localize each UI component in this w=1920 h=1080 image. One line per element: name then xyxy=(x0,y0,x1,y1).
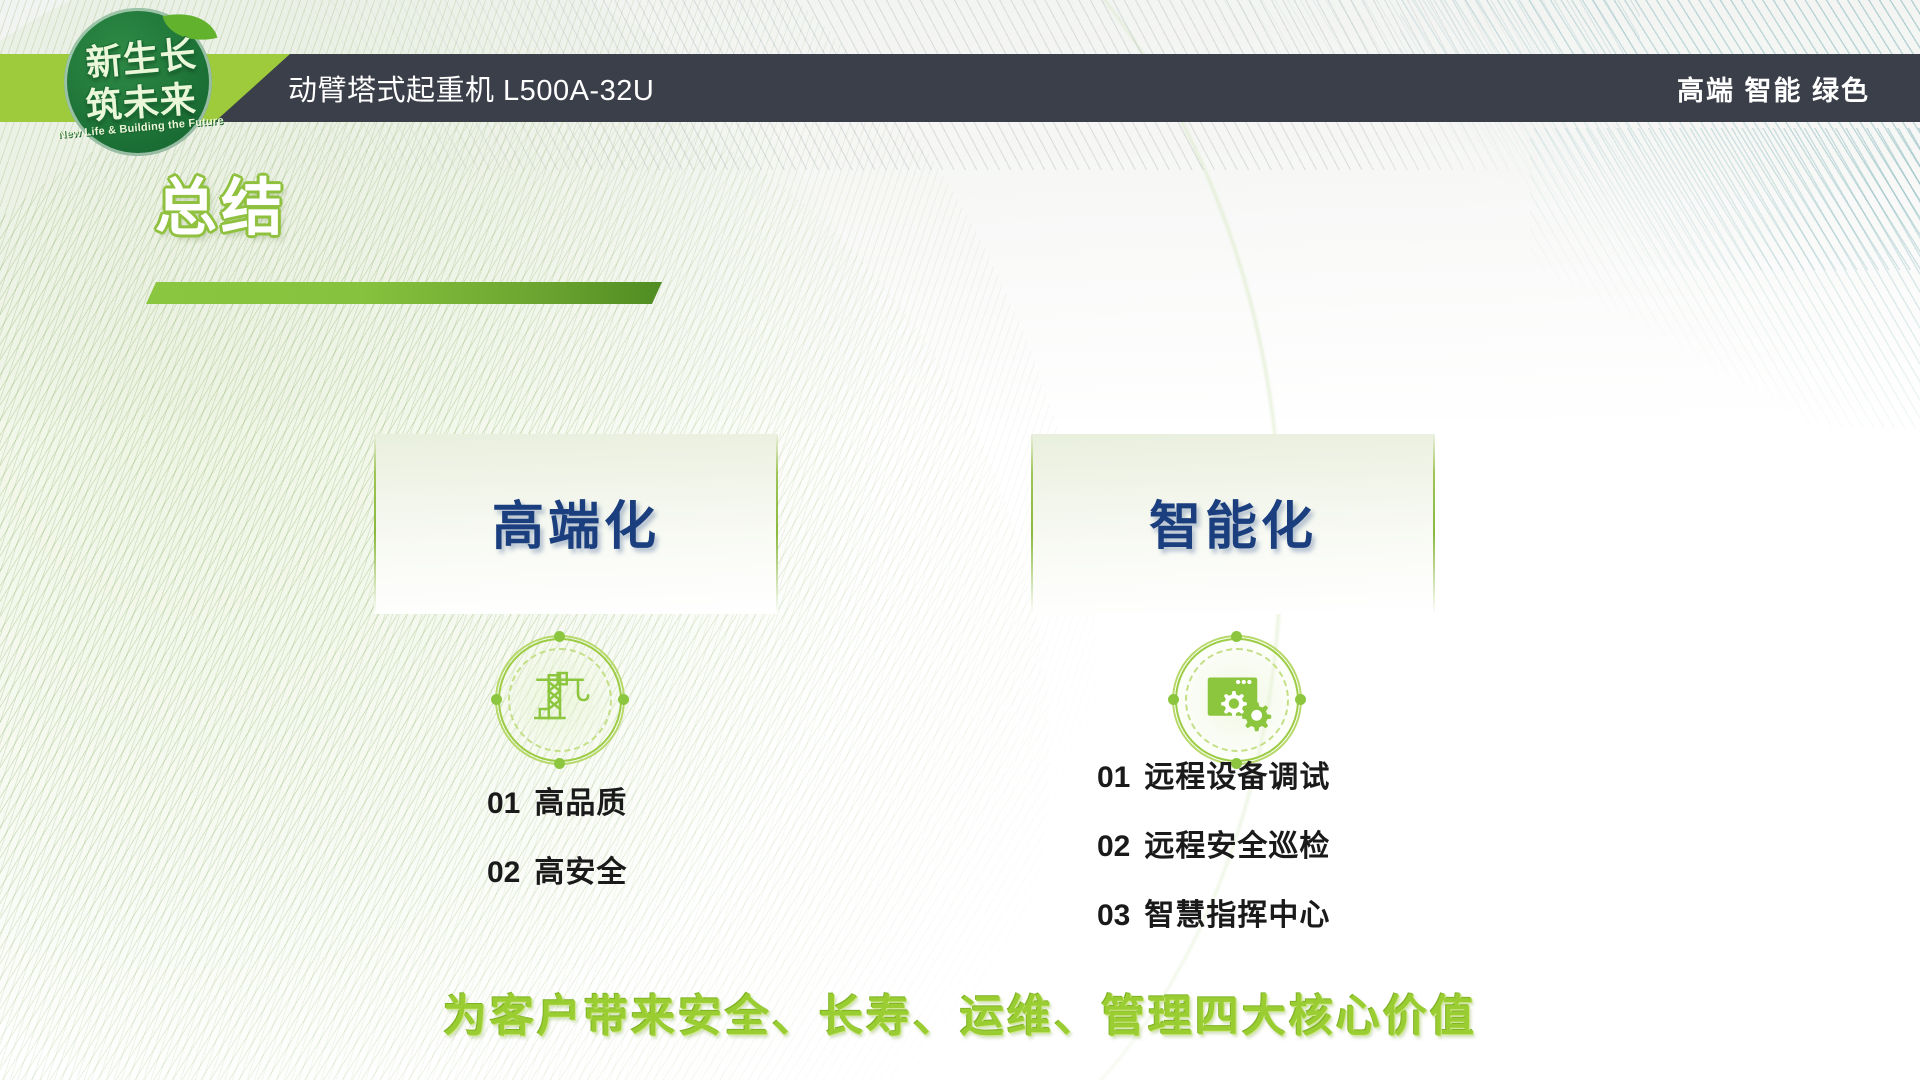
header-tagline: 高端 智能 绿色 xyxy=(1677,54,1870,122)
list-item: 01 高品质 xyxy=(487,778,627,822)
smart-monitor-gear-icon xyxy=(1172,635,1302,765)
icon-dot-west xyxy=(1168,694,1179,705)
list-item: 01 远程设备调试 xyxy=(1097,752,1330,796)
tower-crane-glyph xyxy=(524,664,596,736)
list-item-label: 高品质 xyxy=(534,778,627,822)
footer-slogan: 为客户带来安全、长寿、运维、管理四大核心价值 xyxy=(0,980,1920,1044)
list-item-label: 远程安全巡检 xyxy=(1144,821,1330,865)
list-high-end: 01 高品质 02 高安全 xyxy=(487,778,627,916)
list-item: 02 远程安全巡检 xyxy=(1097,821,1330,865)
list-item: 02 高安全 xyxy=(487,847,627,891)
company-logo: 新生长 筑未来 New Life & Building the Future xyxy=(46,2,236,160)
icon-dot-south xyxy=(554,758,565,769)
tower-crane-icon xyxy=(495,635,625,765)
list-intelligent: 01 远程设备调试 02 远程安全巡检 03 智慧指挥中心 xyxy=(1097,752,1330,959)
list-item-number: 02 xyxy=(1097,830,1130,864)
list-item-number: 02 xyxy=(487,856,520,890)
header-title: 动臂塔式起重机 L500A-32U xyxy=(288,54,654,122)
list-item: 03 智慧指挥中心 xyxy=(1097,890,1330,934)
icon-dot-west xyxy=(491,694,502,705)
page-title: 总结 xyxy=(155,178,287,240)
icon-dot-east xyxy=(1295,694,1306,705)
title-underline-bar xyxy=(146,282,662,304)
list-item-number: 03 xyxy=(1097,899,1130,933)
icon-dot-north xyxy=(1231,631,1242,642)
slide-canvas: 动臂塔式起重机 L500A-32U 高端 智能 绿色 新生长 筑未来 New L… xyxy=(0,0,1920,1080)
list-item-label: 高安全 xyxy=(534,847,627,891)
background-hatch-top-right xyxy=(1400,0,1920,270)
card-title: 智能化 xyxy=(1031,484,1435,559)
list-item-label: 远程设备调试 xyxy=(1144,752,1330,796)
icon-dot-east xyxy=(618,694,629,705)
list-item-number: 01 xyxy=(1097,761,1130,795)
background-decoration xyxy=(0,0,1920,1080)
list-item-number: 01 xyxy=(487,787,520,821)
background-hatch-right-lower xyxy=(1530,128,1920,428)
card-title: 高端化 xyxy=(374,484,778,559)
monitor-gear-glyph xyxy=(1201,664,1273,736)
list-item-label: 智慧指挥中心 xyxy=(1144,890,1330,934)
card-intelligent: 智能化 xyxy=(1031,434,1435,614)
icon-dot-north xyxy=(554,631,565,642)
card-high-end: 高端化 xyxy=(374,434,778,614)
